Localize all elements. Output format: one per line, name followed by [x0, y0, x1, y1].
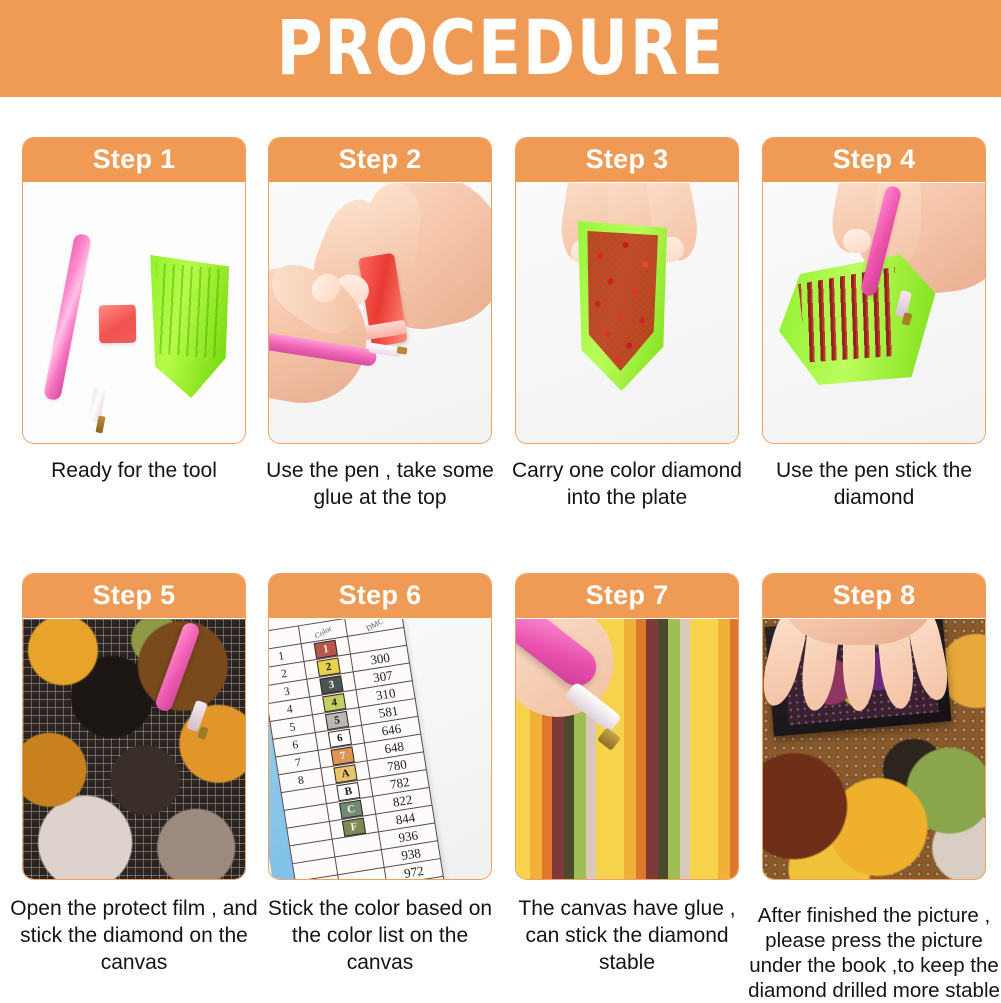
pink-pen-icon: [43, 233, 92, 401]
tools-photo: [23, 183, 245, 443]
step-6-caption: Stick the color based on the color list …: [256, 895, 504, 976]
symbol-swatch: 2: [316, 657, 340, 676]
step-2-caption: Use the pen , take some glue at the top: [256, 457, 504, 511]
step-2-image: [269, 183, 491, 443]
color-chart-photo: Color DMC 112230033307443105558166646776…: [269, 619, 491, 879]
step-1-label: Step 1: [93, 146, 176, 173]
step-card-6[interactable]: Step 6 Color: [268, 573, 492, 880]
step-3-label: Step 3: [586, 146, 669, 173]
symbol-swatch: A: [333, 764, 357, 783]
step-6-image: Color DMC 112230033307443105558166646776…: [269, 619, 491, 879]
step-5-image: [23, 619, 245, 879]
sunflower-canvas-photo: [23, 619, 245, 879]
step-card-4[interactable]: Step 4 Use the pen stick the diamond: [762, 137, 986, 444]
page-header-banner: PROCEDURE: [0, 0, 1001, 97]
tray-grooves: [155, 263, 221, 359]
step-1-caption: Ready for the tool: [10, 457, 258, 484]
step-7-image: [516, 619, 738, 879]
canvas-mosaic: [23, 619, 245, 879]
step-6-label: Step 6: [339, 582, 422, 609]
step-2-frame: Step 2: [268, 137, 492, 444]
step-card-7[interactable]: Step 7 The canvas have glue , can stick …: [515, 573, 739, 880]
step-4-header: Step 4: [762, 137, 986, 182]
step-3-header: Step 3: [515, 137, 739, 182]
step-card-5[interactable]: Step 5 Open the protect film , and stick…: [22, 573, 246, 880]
step-5-caption: Open the protect film , and stick the di…: [10, 895, 258, 976]
symbol-swatch: C: [339, 799, 363, 818]
step-3-frame: Step 3: [515, 137, 739, 444]
step-7-header: Step 7: [515, 573, 739, 618]
step-6-frame: Step 6 Color: [268, 573, 492, 880]
red-glue-square-icon: [99, 305, 137, 344]
step-8-caption: After finished the picture , please pres…: [746, 903, 1001, 1003]
step-8-frame: Step 8: [762, 573, 986, 880]
step-6-header: Step 6: [268, 573, 492, 618]
symbol-swatch: 4: [322, 693, 346, 712]
fingernail: [843, 229, 871, 253]
step-8-image: [763, 619, 985, 879]
step-2-label: Step 2: [339, 146, 422, 173]
step-4-image: [763, 183, 985, 443]
step-4-caption: Use the pen stick the diamond: [750, 457, 998, 511]
symbol-swatch: 5: [325, 710, 349, 729]
step-8-label: Step 8: [833, 582, 916, 609]
symbol-swatch: F: [342, 817, 366, 836]
step-5-frame: Step 5: [22, 573, 246, 880]
press-book-photo: [763, 619, 985, 879]
step-7-frame: Step 7: [515, 573, 739, 880]
step-5-label: Step 5: [93, 582, 176, 609]
step-card-3[interactable]: Step 3 Carry one color diamond into the …: [515, 137, 739, 444]
glue-pickup-photo: [269, 183, 491, 443]
step-4-frame: Step 4: [762, 137, 986, 444]
symbol-swatch: 3: [319, 675, 343, 694]
step-card-1[interactable]: Step 1 Ready for the tool: [22, 137, 246, 444]
pen-metal-tip-icon: [397, 346, 408, 354]
step-7-label: Step 7: [586, 582, 669, 609]
drill-rows-macro-photo: [516, 619, 738, 879]
step-4-label: Step 4: [833, 146, 916, 173]
step-3-image: [516, 183, 738, 443]
step-3-caption: Carry one color diamond into the plate: [503, 457, 751, 511]
page-title: PROCEDURE: [276, 10, 724, 86]
tray-with-drills-photo: [516, 183, 738, 443]
symbol-swatch: 7: [331, 746, 355, 765]
step-5-header: Step 5: [22, 573, 246, 618]
symbol-swatch: B: [336, 781, 360, 800]
step-card-8[interactable]: Step 8 After finished the picture , plea: [762, 573, 986, 880]
step-1-image: [23, 183, 245, 443]
symbol-swatch: 1: [314, 639, 338, 658]
step-7-caption: The canvas have glue , can stick the dia…: [503, 895, 751, 976]
pen-picks-drill-photo: [763, 183, 985, 443]
step-1-header: Step 1: [22, 137, 246, 182]
green-tray-icon: [147, 255, 229, 398]
symbol-swatch: 6: [328, 728, 352, 747]
step-2-header: Step 2: [268, 137, 492, 182]
step-card-2[interactable]: Step 2 Use the pen ,: [268, 137, 492, 444]
step-1-frame: Step 1: [22, 137, 246, 444]
step-8-header: Step 8: [762, 573, 986, 618]
